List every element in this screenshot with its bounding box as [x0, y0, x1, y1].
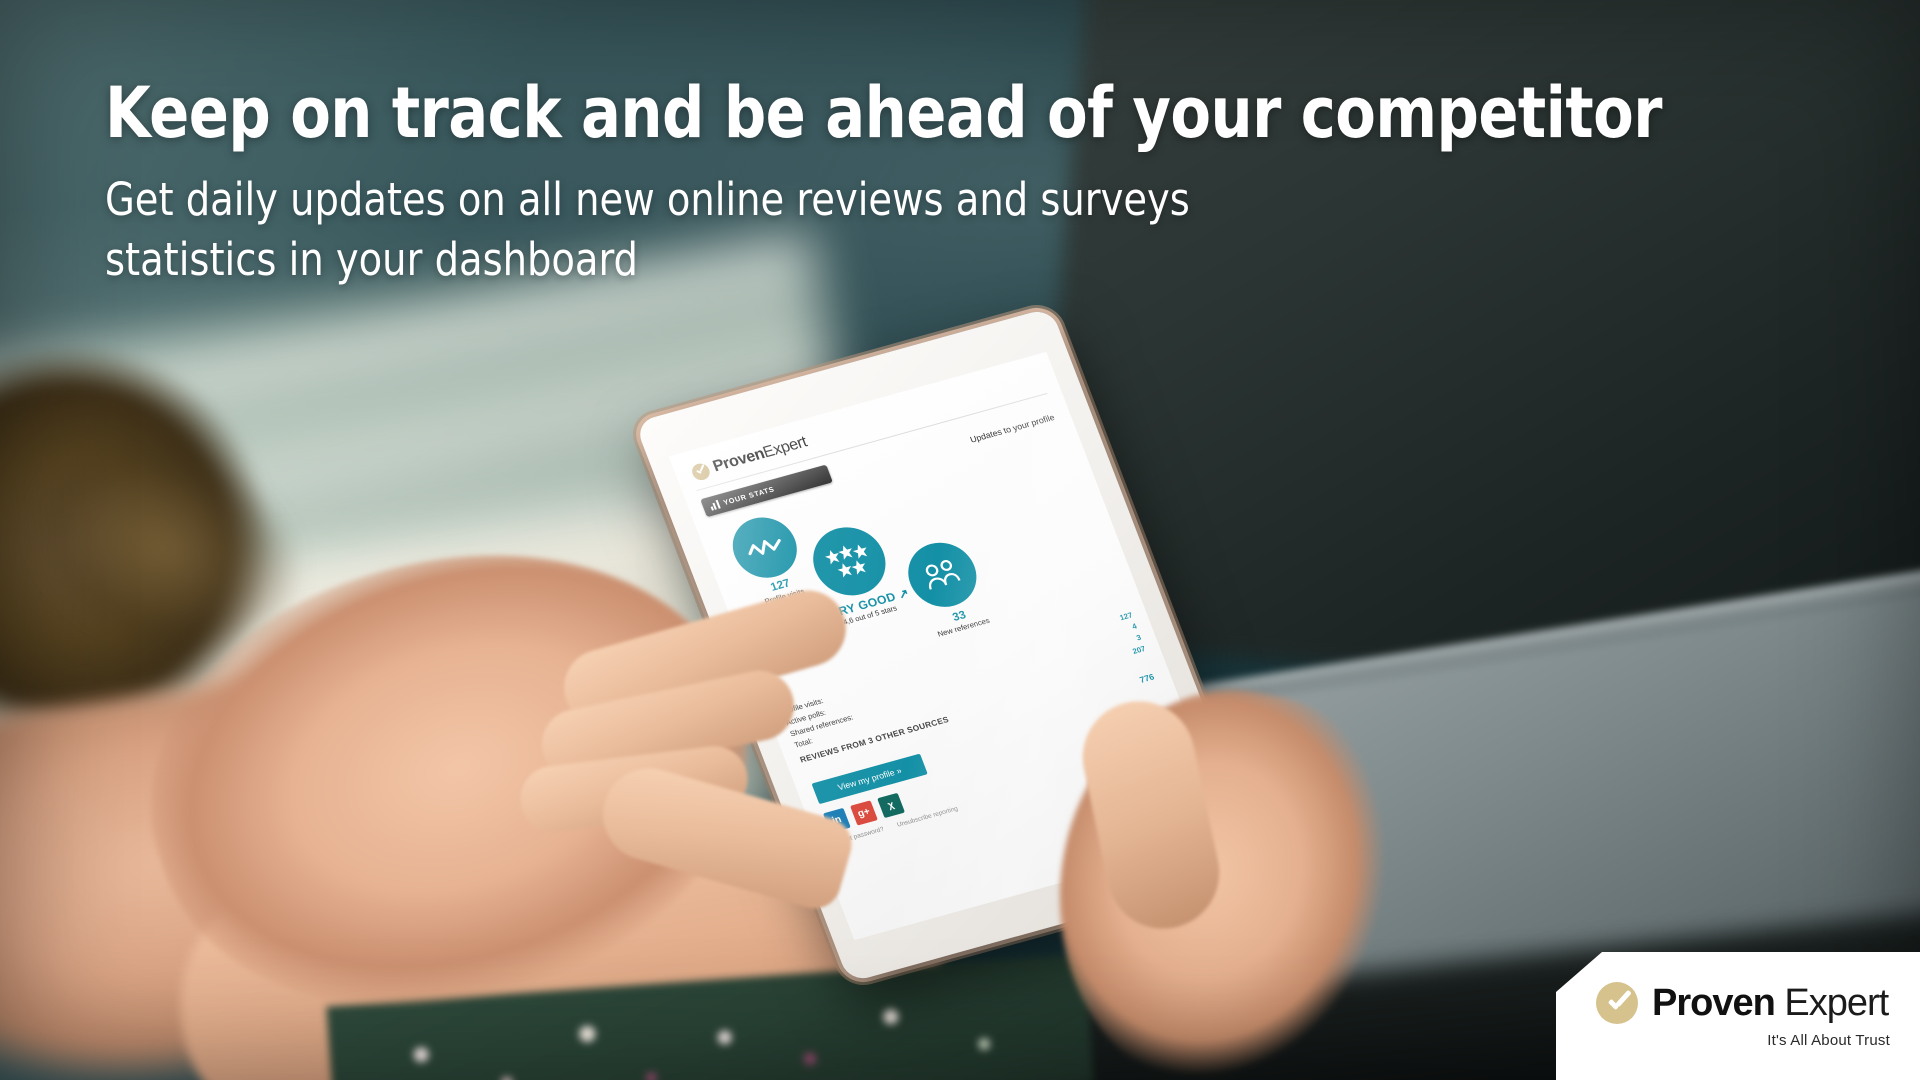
subtitle-line-2: statistics in your dashboard	[105, 230, 1720, 290]
brand-name-light: Expert	[1784, 982, 1888, 1024]
xing-icon[interactable]: χ	[877, 793, 905, 818]
brand-badge-row: Proven Expert	[1556, 952, 1920, 1024]
pulse-line-icon	[744, 533, 786, 561]
app-logo-bold: Proven	[711, 445, 767, 475]
google-plus-icon[interactable]: g+	[850, 800, 878, 825]
page-subtitle: Get daily updates on all new online revi…	[105, 170, 1720, 290]
bar-chart-icon	[709, 500, 721, 511]
check-circle-icon	[1596, 982, 1638, 1024]
headline-block: Keep on track and be ahead of your compe…	[105, 78, 1805, 290]
brand-name: Proven Expert	[1652, 984, 1888, 1022]
check-circle-icon	[689, 461, 712, 481]
metric-references: 33 New references	[911, 598, 1012, 644]
app-logo-light: Expert	[761, 434, 810, 462]
brand-tagline: It's All About Trust	[1556, 1024, 1920, 1049]
page-title: Keep on track and be ahead of your compe…	[105, 78, 1703, 148]
people-group-icon	[919, 556, 967, 594]
brand-badge[interactable]: Proven Expert It's All About Trust	[1556, 952, 1920, 1080]
trend-up-icon: ↗	[896, 586, 911, 602]
brand-name-bold: Proven	[1652, 982, 1775, 1024]
app-logo-text: ProvenExpert	[711, 434, 810, 476]
promo-banner: ProvenExpert YOUR STATS Updates to your …	[0, 0, 1920, 1080]
subtitle-line-1: Get daily updates on all new online revi…	[105, 170, 1720, 230]
metric-icon-profile-visits	[724, 510, 806, 585]
stars-icon	[821, 539, 878, 583]
